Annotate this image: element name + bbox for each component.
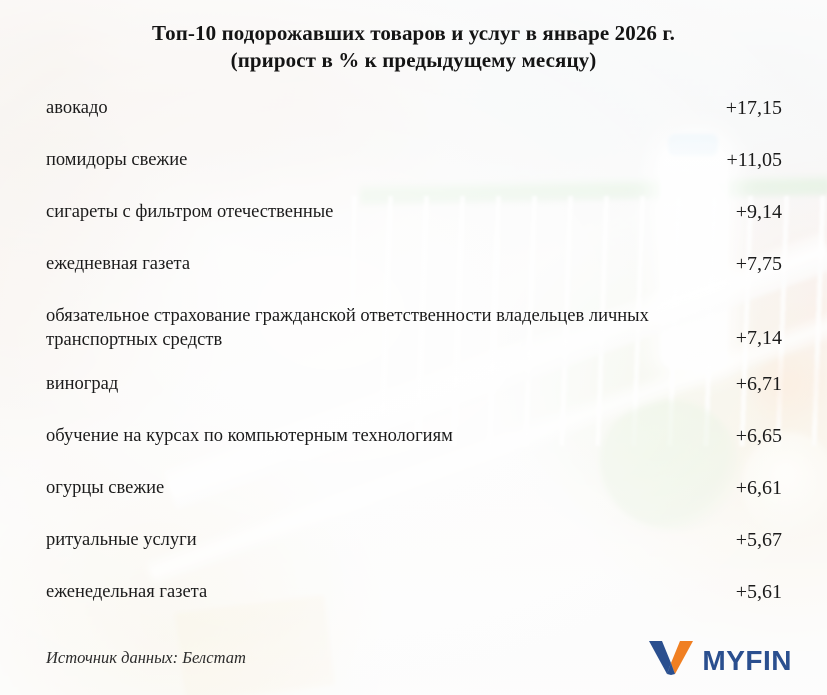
ranking-list: авокадо +17,15 помидоры свежие +11,05 си… — [46, 96, 782, 632]
item-label: еженедельная газета — [46, 580, 207, 604]
item-value: +7,75 — [736, 252, 782, 276]
item-value: +6,61 — [736, 476, 782, 500]
item-value: +17,15 — [726, 96, 782, 120]
item-label: обучение на курсах по компьютерным техно… — [46, 424, 453, 448]
infographic-card: Топ-10 подорожавших товаров и услуг в ян… — [0, 0, 827, 695]
item-label: ежедневная газета — [46, 252, 190, 276]
list-item: виноград +6,71 — [46, 372, 782, 424]
item-value: +5,61 — [736, 580, 782, 604]
page-title: Топ-10 подорожавших товаров и услуг в ян… — [0, 20, 827, 74]
item-label: ритуальные услуги — [46, 528, 197, 552]
myfin-logo: MYFIN — [649, 641, 792, 680]
item-value: +11,05 — [726, 148, 782, 172]
source-note: Источник данных: Белстат — [46, 648, 246, 668]
item-value: +6,65 — [736, 424, 782, 448]
item-label: помидоры свежие — [46, 148, 187, 172]
list-item: ежедневная газета +7,75 — [46, 252, 782, 304]
item-value: +9,14 — [736, 200, 782, 224]
list-item: помидоры свежие +11,05 — [46, 148, 782, 200]
list-item: обучение на курсах по компьютерным техно… — [46, 424, 782, 476]
item-value: +5,67 — [736, 528, 782, 552]
item-label: авокадо — [46, 96, 108, 120]
item-value: +6,71 — [736, 372, 782, 396]
item-label: виноград — [46, 372, 118, 396]
list-item: сигареты с фильтром отечественные +9,14 — [46, 200, 782, 252]
item-label: огурцы свежие — [46, 476, 164, 500]
list-item: ритуальные услуги +5,67 — [46, 528, 782, 580]
title-line-2: (прирост в % к предыдущему месяцу) — [0, 47, 827, 74]
myfin-wordmark: MYFIN — [702, 647, 792, 675]
title-line-1: Топ-10 подорожавших товаров и услуг в ян… — [0, 20, 827, 47]
item-value: +7,14 — [736, 326, 782, 350]
list-item: огурцы свежие +6,61 — [46, 476, 782, 528]
list-item: еженедельная газета +5,61 — [46, 580, 782, 632]
item-label: обязательное страхование гражданской отв… — [46, 304, 656, 352]
myfin-v-chevron-icon — [649, 641, 693, 680]
item-label: сигареты с фильтром отечественные — [46, 200, 333, 224]
list-item: авокадо +17,15 — [46, 96, 782, 148]
list-item: обязательное страхование гражданской отв… — [46, 304, 782, 372]
